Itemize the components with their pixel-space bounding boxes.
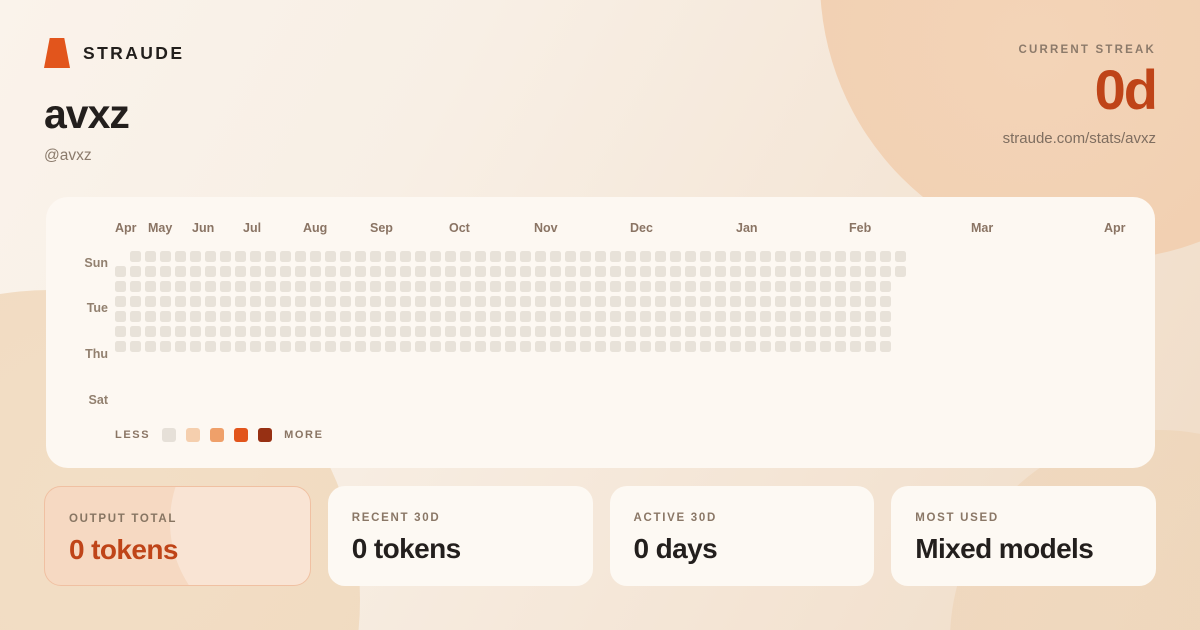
heatmap-cell[interactable] [475, 326, 486, 337]
heatmap-cell[interactable] [700, 281, 711, 292]
heatmap-cell[interactable] [370, 341, 381, 352]
heatmap-cell[interactable] [475, 296, 486, 307]
heatmap-cell[interactable] [505, 341, 516, 352]
heatmap-cell[interactable] [820, 281, 831, 292]
heatmap-cell[interactable] [655, 281, 666, 292]
heatmap-cell[interactable] [595, 296, 606, 307]
heatmap-cell[interactable] [820, 311, 831, 322]
heatmap-cell[interactable] [265, 296, 276, 307]
heatmap-cell[interactable] [295, 266, 306, 277]
heatmap-cell[interactable] [235, 311, 246, 322]
heatmap-cell[interactable] [535, 341, 546, 352]
heatmap-cell[interactable] [505, 251, 516, 262]
heatmap-cell[interactable] [790, 281, 801, 292]
heatmap-cell[interactable] [280, 251, 291, 262]
heatmap-cell[interactable] [700, 311, 711, 322]
heatmap-cell[interactable] [775, 311, 786, 322]
heatmap-cell[interactable] [490, 251, 501, 262]
heatmap-cell[interactable] [850, 296, 861, 307]
heatmap-cell[interactable] [460, 266, 471, 277]
heatmap-cell[interactable] [175, 251, 186, 262]
heatmap-cell[interactable] [730, 296, 741, 307]
heatmap-cell[interactable] [280, 266, 291, 277]
heatmap-cell[interactable] [535, 296, 546, 307]
heatmap-cell[interactable] [340, 296, 351, 307]
heatmap-cell[interactable] [250, 341, 261, 352]
heatmap-cell[interactable] [880, 251, 891, 262]
heatmap-cell[interactable] [355, 266, 366, 277]
heatmap-cell[interactable] [685, 251, 696, 262]
heatmap-cell[interactable] [625, 326, 636, 337]
heatmap-cell[interactable] [265, 311, 276, 322]
heatmap-cell[interactable] [190, 311, 201, 322]
heatmap-cell[interactable] [760, 341, 771, 352]
heatmap-cell[interactable] [160, 266, 171, 277]
heatmap-cell[interactable] [760, 326, 771, 337]
heatmap-cell[interactable] [490, 266, 501, 277]
heatmap-cell[interactable] [670, 311, 681, 322]
heatmap-cell[interactable] [685, 296, 696, 307]
heatmap-cell[interactable] [145, 281, 156, 292]
heatmap-cell[interactable] [175, 311, 186, 322]
heatmap-cell[interactable] [430, 281, 441, 292]
heatmap-cell[interactable] [835, 341, 846, 352]
heatmap-cell[interactable] [685, 311, 696, 322]
heatmap-cell[interactable] [700, 296, 711, 307]
heatmap-cell[interactable] [805, 341, 816, 352]
heatmap-cell[interactable] [715, 341, 726, 352]
heatmap-cell[interactable] [715, 281, 726, 292]
heatmap-cell[interactable] [655, 296, 666, 307]
heatmap-cell[interactable] [235, 341, 246, 352]
heatmap-cell[interactable] [880, 326, 891, 337]
heatmap-cell[interactable] [865, 266, 876, 277]
heatmap-cell[interactable] [835, 281, 846, 292]
heatmap-cell[interactable] [460, 251, 471, 262]
heatmap-cell[interactable] [280, 296, 291, 307]
heatmap-cell[interactable] [550, 281, 561, 292]
heatmap-cell[interactable] [790, 296, 801, 307]
heatmap-cell[interactable] [550, 251, 561, 262]
heatmap-cell[interactable] [355, 296, 366, 307]
heatmap-cell[interactable] [370, 281, 381, 292]
heatmap-cell[interactable] [295, 296, 306, 307]
heatmap-cell[interactable] [760, 311, 771, 322]
heatmap-cell[interactable] [325, 251, 336, 262]
heatmap-cell[interactable] [415, 296, 426, 307]
heatmap-cell[interactable] [445, 311, 456, 322]
heatmap-cell[interactable] [160, 311, 171, 322]
heatmap-cell[interactable] [685, 326, 696, 337]
heatmap-cell[interactable] [730, 341, 741, 352]
heatmap-cell[interactable] [535, 266, 546, 277]
heatmap-cell[interactable] [625, 266, 636, 277]
heatmap-cell[interactable] [190, 281, 201, 292]
heatmap-cell[interactable] [715, 266, 726, 277]
heatmap-cell[interactable] [745, 326, 756, 337]
heatmap-cell[interactable] [745, 266, 756, 277]
heatmap-cell[interactable] [145, 266, 156, 277]
heatmap-cell[interactable] [280, 326, 291, 337]
heatmap-cell[interactable] [520, 311, 531, 322]
heatmap-cell[interactable] [895, 266, 906, 277]
heatmap-cell[interactable] [505, 326, 516, 337]
heatmap-cell[interactable] [505, 281, 516, 292]
heatmap-cell[interactable] [625, 281, 636, 292]
heatmap-cell[interactable] [385, 326, 396, 337]
heatmap-cell[interactable] [835, 266, 846, 277]
heatmap-cell[interactable] [205, 266, 216, 277]
heatmap-cell[interactable] [205, 311, 216, 322]
heatmap-cell[interactable] [730, 251, 741, 262]
heatmap-cell[interactable] [220, 326, 231, 337]
heatmap-cell[interactable] [415, 326, 426, 337]
heatmap-cell[interactable] [730, 281, 741, 292]
heatmap-cell[interactable] [145, 296, 156, 307]
heatmap-cell[interactable] [730, 311, 741, 322]
heatmap-cell[interactable] [820, 251, 831, 262]
heatmap-cell[interactable] [130, 266, 141, 277]
heatmap-cell[interactable] [355, 326, 366, 337]
heatmap-cell[interactable] [175, 296, 186, 307]
heatmap-cell[interactable] [340, 341, 351, 352]
heatmap-cell[interactable] [625, 296, 636, 307]
heatmap-cell[interactable] [580, 251, 591, 262]
heatmap-cell[interactable] [850, 251, 861, 262]
heatmap-cell[interactable] [130, 326, 141, 337]
heatmap-cell[interactable] [190, 266, 201, 277]
heatmap-cell[interactable] [805, 281, 816, 292]
heatmap-cell[interactable] [265, 251, 276, 262]
heatmap-cell[interactable] [400, 311, 411, 322]
heatmap-cell[interactable] [250, 296, 261, 307]
heatmap-cell[interactable] [880, 296, 891, 307]
heatmap-cell[interactable] [415, 251, 426, 262]
heatmap-cell[interactable] [205, 251, 216, 262]
heatmap-cell[interactable] [640, 326, 651, 337]
heatmap-cell[interactable] [805, 296, 816, 307]
heatmap-cell[interactable] [445, 296, 456, 307]
heatmap-cell[interactable] [550, 266, 561, 277]
heatmap-cell[interactable] [295, 311, 306, 322]
heatmap-cell[interactable] [700, 326, 711, 337]
heatmap-cell[interactable] [115, 326, 126, 337]
heatmap-cell[interactable] [820, 326, 831, 337]
heatmap-cell[interactable] [475, 311, 486, 322]
heatmap-cell[interactable] [190, 341, 201, 352]
heatmap-cell[interactable] [655, 266, 666, 277]
heatmap-cell[interactable] [160, 251, 171, 262]
heatmap-cell[interactable] [400, 296, 411, 307]
heatmap-cell[interactable] [175, 281, 186, 292]
heatmap-cell[interactable] [790, 311, 801, 322]
heatmap-cell[interactable] [340, 281, 351, 292]
heatmap-cell[interactable] [220, 341, 231, 352]
heatmap-cell[interactable] [640, 266, 651, 277]
heatmap-cell[interactable] [640, 251, 651, 262]
heatmap-cell[interactable] [655, 341, 666, 352]
heatmap-cell[interactable] [595, 266, 606, 277]
heatmap-cell[interactable] [460, 311, 471, 322]
heatmap-cell[interactable] [760, 251, 771, 262]
heatmap-cell[interactable] [475, 281, 486, 292]
heatmap-cell[interactable] [640, 311, 651, 322]
heatmap-cell[interactable] [385, 266, 396, 277]
heatmap-cell[interactable] [460, 341, 471, 352]
heatmap-cell[interactable] [340, 266, 351, 277]
heatmap-cell[interactable] [625, 251, 636, 262]
heatmap-cell[interactable] [370, 311, 381, 322]
heatmap-cell[interactable] [880, 266, 891, 277]
heatmap-cell[interactable] [640, 281, 651, 292]
heatmap-cell[interactable] [205, 326, 216, 337]
heatmap-cell[interactable] [415, 311, 426, 322]
heatmap-cell[interactable] [175, 341, 186, 352]
heatmap-cell[interactable] [295, 341, 306, 352]
heatmap-cell[interactable] [835, 251, 846, 262]
heatmap-cell[interactable] [325, 281, 336, 292]
heatmap-cell[interactable] [310, 341, 321, 352]
heatmap-cell[interactable] [385, 296, 396, 307]
heatmap-cell[interactable] [535, 311, 546, 322]
heatmap-cell[interactable] [220, 251, 231, 262]
heatmap-cell[interactable] [520, 341, 531, 352]
heatmap-cell[interactable] [775, 296, 786, 307]
heatmap-cell[interactable] [775, 326, 786, 337]
heatmap-cell[interactable] [625, 311, 636, 322]
heatmap-cell[interactable] [730, 326, 741, 337]
heatmap-cell[interactable] [685, 341, 696, 352]
heatmap-cell[interactable] [280, 311, 291, 322]
heatmap-cell[interactable] [310, 326, 321, 337]
heatmap-cell[interactable] [205, 341, 216, 352]
heatmap-cell[interactable] [340, 251, 351, 262]
heatmap-cell[interactable] [580, 311, 591, 322]
heatmap-cell[interactable] [280, 341, 291, 352]
heatmap-cell[interactable] [430, 266, 441, 277]
heatmap-cell[interactable] [535, 281, 546, 292]
heatmap-cell[interactable] [865, 296, 876, 307]
heatmap-cell[interactable] [835, 311, 846, 322]
heatmap-cell[interactable] [295, 281, 306, 292]
heatmap-cell[interactable] [775, 281, 786, 292]
heatmap-cell[interactable] [130, 311, 141, 322]
heatmap-cell[interactable] [835, 326, 846, 337]
heatmap-cell[interactable] [295, 326, 306, 337]
heatmap-cell[interactable] [520, 251, 531, 262]
heatmap-cell[interactable] [130, 281, 141, 292]
heatmap-cell[interactable] [520, 296, 531, 307]
heatmap-cell[interactable] [850, 266, 861, 277]
heatmap-cell[interactable] [400, 341, 411, 352]
heatmap-cell[interactable] [565, 266, 576, 277]
heatmap-cell[interactable] [265, 266, 276, 277]
heatmap-cell[interactable] [700, 251, 711, 262]
heatmap-cell[interactable] [775, 341, 786, 352]
heatmap-cell[interactable] [430, 296, 441, 307]
heatmap-cell[interactable] [865, 311, 876, 322]
heatmap-cell[interactable] [550, 341, 561, 352]
heatmap-cell[interactable] [415, 281, 426, 292]
heatmap-cell[interactable] [670, 266, 681, 277]
heatmap-cell[interactable] [310, 311, 321, 322]
heatmap-cell[interactable] [670, 251, 681, 262]
heatmap-cell[interactable] [670, 296, 681, 307]
heatmap-cell[interactable] [745, 251, 756, 262]
heatmap-cell[interactable] [160, 281, 171, 292]
heatmap-cell[interactable] [250, 326, 261, 337]
heatmap-cell[interactable] [280, 281, 291, 292]
heatmap-cell[interactable] [370, 296, 381, 307]
heatmap-cell[interactable] [370, 251, 381, 262]
heatmap-cell[interactable] [865, 326, 876, 337]
heatmap-cell[interactable] [880, 281, 891, 292]
heatmap-cell[interactable] [115, 296, 126, 307]
heatmap-cell[interactable] [205, 296, 216, 307]
heatmap-cell[interactable] [430, 341, 441, 352]
heatmap-cell[interactable] [520, 281, 531, 292]
heatmap-cell[interactable] [745, 281, 756, 292]
heatmap-cell[interactable] [460, 326, 471, 337]
heatmap-cell[interactable] [325, 296, 336, 307]
heatmap-cell[interactable] [115, 281, 126, 292]
heatmap-cell[interactable] [160, 341, 171, 352]
heatmap-cell[interactable] [475, 341, 486, 352]
heatmap-cell[interactable] [355, 251, 366, 262]
heatmap-cell[interactable] [370, 266, 381, 277]
heatmap-cell[interactable] [820, 266, 831, 277]
heatmap-cell[interactable] [655, 326, 666, 337]
heatmap-cell[interactable] [790, 341, 801, 352]
heatmap-cell[interactable] [790, 326, 801, 337]
heatmap-cell[interactable] [220, 266, 231, 277]
heatmap-cell[interactable] [565, 296, 576, 307]
heatmap-cell[interactable] [640, 296, 651, 307]
heatmap-cell[interactable] [205, 281, 216, 292]
heatmap-cell[interactable] [295, 251, 306, 262]
heatmap-cell[interactable] [190, 296, 201, 307]
heatmap-cell[interactable] [385, 281, 396, 292]
heatmap-cell[interactable] [610, 266, 621, 277]
heatmap-cell[interactable] [355, 281, 366, 292]
heatmap-cell[interactable] [235, 266, 246, 277]
heatmap-cell[interactable] [655, 311, 666, 322]
heatmap-cell[interactable] [895, 251, 906, 262]
heatmap-cell[interactable] [385, 251, 396, 262]
heatmap-cell[interactable] [490, 326, 501, 337]
heatmap-cell[interactable] [145, 311, 156, 322]
heatmap-cell[interactable] [850, 281, 861, 292]
heatmap-cell[interactable] [670, 326, 681, 337]
heatmap-cell[interactable] [145, 251, 156, 262]
heatmap-cell[interactable] [325, 266, 336, 277]
heatmap-cell[interactable] [805, 311, 816, 322]
heatmap-cell[interactable] [820, 296, 831, 307]
heatmap-cell[interactable] [370, 326, 381, 337]
heatmap-cell[interactable] [565, 341, 576, 352]
heatmap-cell[interactable] [415, 266, 426, 277]
heatmap-cell[interactable] [535, 251, 546, 262]
heatmap-cell[interactable] [580, 341, 591, 352]
heatmap-cell[interactable] [745, 296, 756, 307]
heatmap-cell[interactable] [160, 326, 171, 337]
heatmap-cell[interactable] [415, 341, 426, 352]
heatmap-cell[interactable] [520, 326, 531, 337]
heatmap-cell[interactable] [115, 266, 126, 277]
heatmap-cell[interactable] [580, 281, 591, 292]
heatmap-cell[interactable] [310, 296, 321, 307]
heatmap-cell[interactable] [265, 326, 276, 337]
heatmap-cell[interactable] [775, 266, 786, 277]
heatmap-cell[interactable] [880, 341, 891, 352]
heatmap-cell[interactable] [715, 311, 726, 322]
heatmap-cell[interactable] [505, 266, 516, 277]
heatmap-cell[interactable] [745, 311, 756, 322]
heatmap-cell[interactable] [430, 251, 441, 262]
heatmap-cell[interactable] [565, 311, 576, 322]
heatmap-cell[interactable] [850, 311, 861, 322]
heatmap-cell[interactable] [400, 281, 411, 292]
heatmap-cell[interactable] [475, 266, 486, 277]
heatmap-cell[interactable] [325, 341, 336, 352]
heatmap-cell[interactable] [760, 281, 771, 292]
heatmap-cell[interactable] [235, 251, 246, 262]
heatmap-cell[interactable] [145, 326, 156, 337]
heatmap-cell[interactable] [325, 326, 336, 337]
heatmap-cell[interactable] [385, 311, 396, 322]
heatmap-cell[interactable] [385, 341, 396, 352]
heatmap-cell[interactable] [310, 281, 321, 292]
heatmap-cell[interactable] [475, 251, 486, 262]
heatmap-cell[interactable] [505, 311, 516, 322]
heatmap-cell[interactable] [685, 266, 696, 277]
heatmap-cell[interactable] [595, 311, 606, 322]
heatmap-cell[interactable] [880, 311, 891, 322]
heatmap-cell[interactable] [190, 326, 201, 337]
heatmap-cell[interactable] [265, 341, 276, 352]
heatmap-cell[interactable] [505, 296, 516, 307]
heatmap-cell[interactable] [175, 266, 186, 277]
heatmap-cell[interactable] [550, 311, 561, 322]
heatmap-cell[interactable] [565, 281, 576, 292]
heatmap-cell[interactable] [865, 251, 876, 262]
heatmap-cell[interactable] [805, 251, 816, 262]
heatmap-cell[interactable] [790, 251, 801, 262]
heatmap-cell[interactable] [115, 311, 126, 322]
heatmap-cell[interactable] [490, 311, 501, 322]
heatmap-cell[interactable] [490, 281, 501, 292]
heatmap-cell[interactable] [805, 326, 816, 337]
heatmap-cell[interactable] [760, 296, 771, 307]
heatmap-cell[interactable] [250, 251, 261, 262]
heatmap-cell[interactable] [310, 251, 321, 262]
heatmap-cell[interactable] [445, 281, 456, 292]
heatmap-cell[interactable] [580, 296, 591, 307]
heatmap-cell[interactable] [700, 341, 711, 352]
heatmap-cell[interactable] [250, 281, 261, 292]
heatmap-cell[interactable] [400, 266, 411, 277]
heatmap-cell[interactable] [715, 251, 726, 262]
heatmap-cell[interactable] [220, 281, 231, 292]
heatmap-cell[interactable] [130, 251, 141, 262]
heatmap-cell[interactable] [340, 311, 351, 322]
heatmap-cell[interactable] [130, 341, 141, 352]
heatmap-cell[interactable] [145, 341, 156, 352]
heatmap-cell[interactable] [580, 326, 591, 337]
heatmap-cell[interactable] [805, 266, 816, 277]
heatmap-cell[interactable] [700, 266, 711, 277]
heatmap-cell[interactable] [550, 296, 561, 307]
